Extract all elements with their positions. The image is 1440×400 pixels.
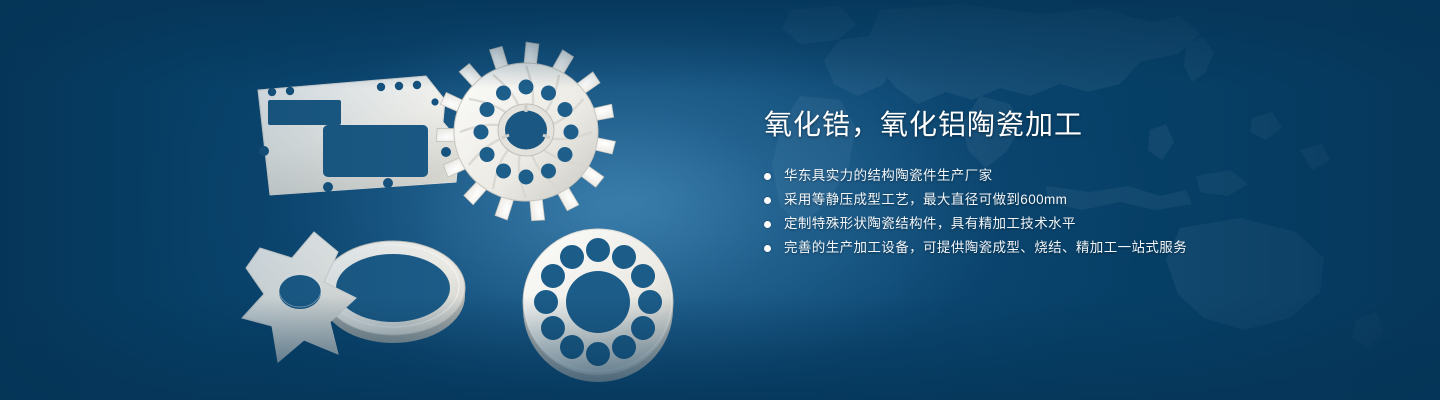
feature-list: 华东具实力的结构陶瓷件生产厂家 采用等静压成型工艺，最大直径可做到600mm 定…: [764, 164, 1384, 260]
banner-copy: 氧化锆，氧化铝陶瓷加工 华东具实力的结构陶瓷件生产厂家 采用等静压成型工艺，最大…: [764, 108, 1384, 260]
list-item-label: 华东具实力的结构陶瓷件生产厂家: [784, 164, 993, 188]
bullet-dot-icon: [764, 221, 771, 228]
bullet-dot-icon: [764, 197, 771, 204]
list-item: 完善的生产加工设备，可提供陶瓷成型、烧结、精加工一站式服务: [764, 236, 1384, 260]
page-title: 氧化锆，氧化铝陶瓷加工: [764, 108, 1384, 142]
list-item-label: 完善的生产加工设备，可提供陶瓷成型、烧结、精加工一站式服务: [784, 236, 1187, 260]
list-item: 采用等静压成型工艺，最大直径可做到600mm: [764, 188, 1384, 212]
list-item: 华东具实力的结构陶瓷件生产厂家: [764, 164, 1384, 188]
bullet-dot-icon: [764, 173, 771, 180]
bullet-dot-icon: [764, 245, 771, 252]
list-item-label: 采用等静压成型工艺，最大直径可做到600mm: [784, 188, 1067, 212]
list-item: 定制特殊形状陶瓷结构件，具有精加工技术水平: [764, 212, 1384, 236]
hero-banner: 氧化锆，氧化铝陶瓷加工 华东具实力的结构陶瓷件生产厂家 采用等静压成型工艺，最大…: [0, 0, 1440, 400]
list-item-label: 定制特殊形状陶瓷结构件，具有精加工技术水平: [784, 212, 1076, 236]
